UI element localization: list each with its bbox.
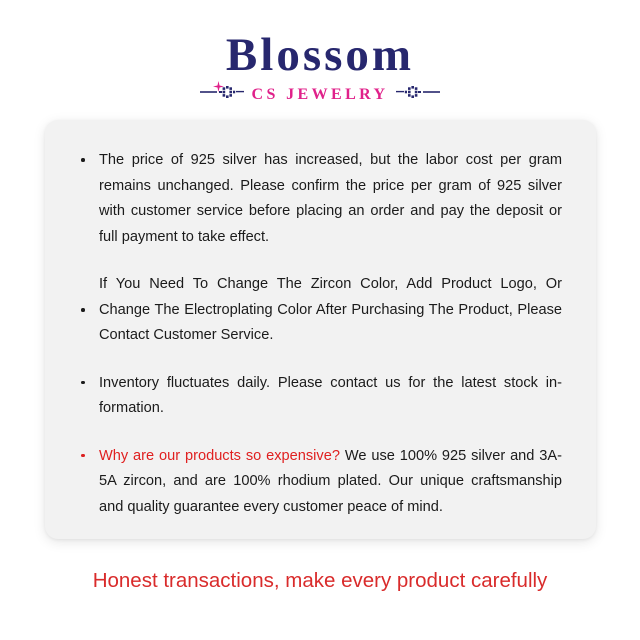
- notice-text: If You Need To Change The Zircon Color, …: [99, 276, 562, 343]
- diamond-sparkle-icon: [213, 52, 224, 63]
- notice-text: Inventory fluctuates daily. Please conta…: [99, 375, 562, 417]
- notice-item-inventory: Inventory fluctuates daily. Please conta…: [78, 371, 562, 422]
- brand-subtitle-text: CS JEWELRY: [251, 86, 388, 104]
- notice-item-pricing-explanation: Why are our products so expensive? We us…: [78, 444, 562, 521]
- bullet-icon: [81, 381, 85, 385]
- promotional-notice-page: Blossom: [0, 0, 640, 640]
- brand-name: Blossom: [226, 30, 414, 80]
- bullet-icon: [81, 308, 85, 312]
- diamond-flourish-icon-right: [396, 84, 440, 105]
- notice-item-customization: If You Need To Change The Zircon Color, …: [78, 272, 562, 349]
- notice-card: The price of 925 silver has increased, b…: [45, 120, 596, 539]
- notice-list: The price of 925 silver has increased, b…: [78, 148, 562, 520]
- notice-question: Why are our products so expensive?: [99, 448, 340, 464]
- brand-name-text: Blossom: [226, 29, 414, 81]
- notice-item-silver-price: The price of 925 silver has increased, b…: [78, 148, 562, 250]
- brand-subtitle-row: CS JEWELRY: [0, 84, 640, 105]
- bullet-icon: [81, 454, 85, 458]
- brand-header: Blossom: [0, 30, 640, 105]
- footer-tagline: Honest transactions, make every product …: [0, 568, 640, 594]
- bullet-icon: [81, 158, 85, 162]
- notice-text: The price of 925 silver has increased, b…: [99, 152, 562, 245]
